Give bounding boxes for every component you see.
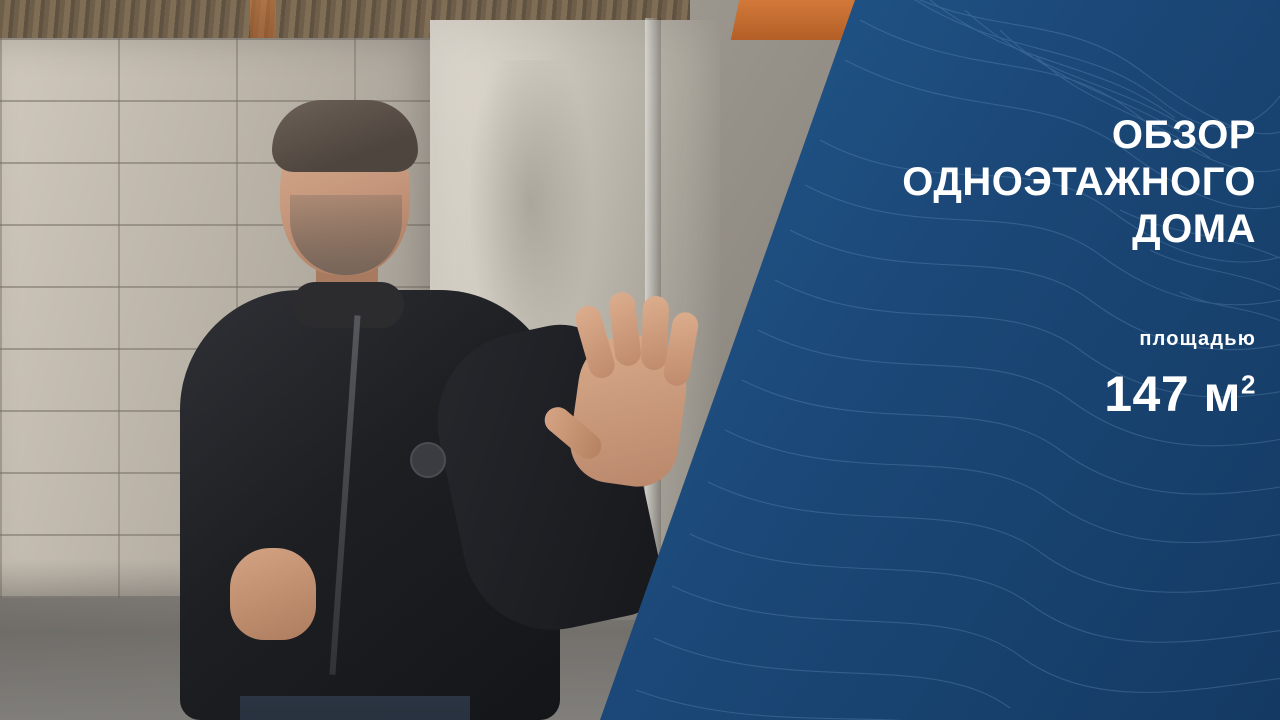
overlay-area-value: 147 м — [1104, 366, 1241, 422]
jacket-collar — [292, 282, 404, 328]
jeans — [240, 696, 470, 720]
overlay-subtitle: площадью — [1139, 328, 1280, 351]
jacket-logo — [410, 442, 446, 478]
overlay-title: ОБЗОР ОДНОЭТАЖНОГО ДОМА — [902, 112, 1280, 254]
hair — [272, 100, 418, 172]
overlay-area-exponent: 2 — [1241, 369, 1256, 399]
overlay-area: 147 м2 — [1104, 365, 1280, 423]
thumbnail-canvas: ОБЗОР ОДНОЭТАЖНОГО ДОМА площадью 147 м2 — [0, 0, 1280, 720]
ceiling-beam-secondary — [250, 0, 276, 40]
closed-hand — [230, 548, 316, 640]
person-figure — [120, 100, 680, 720]
overlay-title-line-1: ОБЗОР — [902, 112, 1256, 159]
ceiling-beam-orange — [731, 0, 860, 40]
overlay-title-line-2: ОДНОЭТАЖНОГО — [902, 159, 1256, 206]
overlay-text-block: ОБЗОР ОДНОЭТАЖНОГО ДОМА площадью 147 м2 — [880, 0, 1280, 720]
overlay-title-line-3: ДОМА — [902, 206, 1256, 253]
